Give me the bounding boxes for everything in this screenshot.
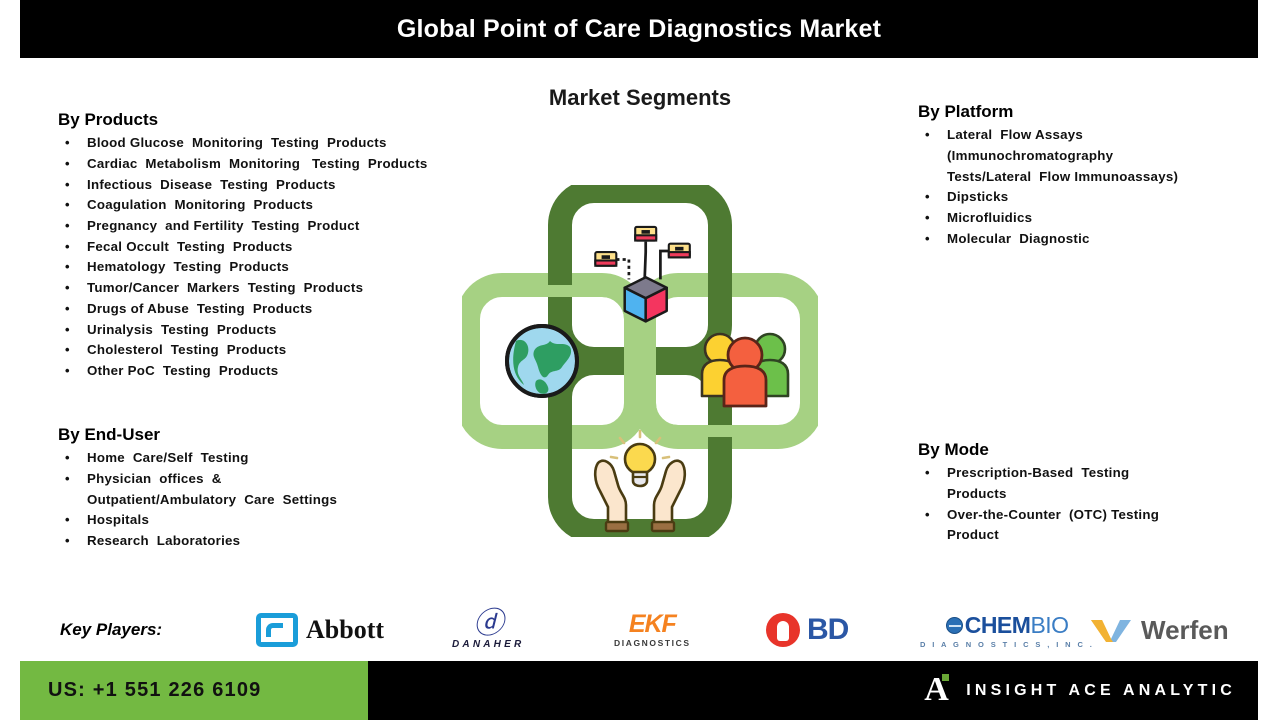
segment-by-products: By Products Blood Glucose Monitoring Tes… — [58, 109, 428, 382]
bd-wordmark: BD — [807, 613, 848, 647]
interlocking-rings-graphic — [462, 185, 818, 537]
list-item: Pregnancy and Fertility Testing Product — [58, 216, 428, 237]
abbott-mark-icon — [256, 613, 298, 647]
by-end-user-heading: By End-User — [58, 424, 337, 445]
danaher-wordmark: DANAHER — [452, 639, 524, 650]
list-item: Dipsticks — [918, 187, 1248, 208]
logo-danaher[interactable]: ⓓ DANAHER — [452, 600, 524, 660]
list-item: Prescription-Based Testing — [918, 463, 1248, 484]
list-item: Research Laboratories — [58, 531, 337, 552]
list-item: Hospitals — [58, 510, 337, 531]
list-item-continuation: (Immunochromatography — [918, 146, 1248, 167]
logo-werfen[interactable]: Werfen — [1090, 600, 1229, 660]
chembio-globe-icon — [946, 617, 963, 634]
brand-logo[interactable]: A INSIGHT ACE ANALYTIC — [924, 674, 1258, 708]
by-products-heading: By Products — [58, 109, 428, 130]
chembio-subtext: D I A G N O S T I C S , I N C . — [920, 640, 1094, 649]
segment-by-mode: By Mode Prescription-Based Testing Produ… — [918, 439, 1248, 546]
list-item: Drugs of Abuse Testing Products — [58, 299, 428, 320]
list-item: Cholesterol Testing Products — [58, 340, 428, 361]
chembio-wordmark-bold: CHEM — [965, 612, 1031, 638]
list-item: Molecular Diagnostic — [918, 229, 1248, 250]
list-item-continuation: Outpatient/Ambulatory Care Settings — [58, 490, 337, 511]
brand-accent-dot — [942, 674, 949, 681]
list-item-continuation: Tests/Lateral Flow Immunoassays) — [918, 167, 1248, 188]
key-players-row: Key Players: Abbott ⓓ DANAHER EKF DIAGNO… — [0, 600, 1280, 660]
by-mode-heading: By Mode — [918, 439, 1248, 460]
by-platform-heading: By Platform — [918, 101, 1248, 122]
bd-starburst-icon — [766, 613, 800, 647]
list-item-continuation: Products — [918, 484, 1248, 505]
list-item: Physician offices & — [58, 469, 337, 490]
list-item: Cardiac Metabolism Monitoring Testing Pr… — [58, 154, 428, 175]
list-item: Coagulation Monitoring Products — [58, 195, 428, 216]
danaher-mark-icon: ⓓ — [473, 611, 503, 637]
by-platform-list: Lateral Flow Assays (Immunochromatograph… — [918, 125, 1248, 249]
list-item-continuation: Product — [918, 525, 1248, 546]
werfen-chevron-icon — [1090, 617, 1132, 643]
logo-bd[interactable]: BD — [766, 600, 848, 660]
list-item: Over-the-Counter (OTC) Testing — [918, 505, 1248, 526]
globe-icon — [507, 326, 577, 396]
list-item: Infectious Disease Testing Products — [58, 175, 428, 196]
segment-by-platform: By Platform Lateral Flow Assays (Immunoc… — [918, 101, 1248, 249]
logo-ekf-diagnostics[interactable]: EKF DIAGNOSTICS — [614, 600, 691, 660]
people-group-icon — [702, 334, 788, 406]
by-products-list: Blood Glucose Monitoring Testing Product… — [58, 133, 428, 381]
ekf-wordmark: EKF — [629, 612, 676, 637]
abbott-wordmark: Abbott — [306, 615, 384, 645]
insight-ace-a-icon: A — [924, 674, 950, 708]
page-title: Global Point of Care Diagnostics Market — [397, 15, 881, 44]
list-item: Microfluidics — [918, 208, 1248, 229]
logo-chembio-diagnostics[interactable]: CHEMBIO D I A G N O S T I C S , I N C . — [920, 600, 1094, 660]
header-bar: Global Point of Care Diagnostics Market — [20, 0, 1258, 58]
list-item: Blood Glucose Monitoring Testing Product… — [58, 133, 428, 154]
key-players-label: Key Players: — [60, 620, 162, 640]
list-item: Other PoC Testing Products — [58, 361, 428, 382]
footer-brand-bar: A INSIGHT ACE ANALYTIC — [368, 661, 1258, 720]
list-item: Home Care/Self Testing — [58, 448, 337, 469]
by-mode-list: Prescription-Based Testing Products Over… — [918, 463, 1248, 546]
list-item: Fecal Occult Testing Products — [58, 237, 428, 258]
brand-name: INSIGHT ACE ANALYTIC — [966, 682, 1236, 700]
contact-phone[interactable]: US: +1 551 226 6109 — [20, 679, 262, 702]
list-item: Urinalysis Testing Products — [58, 320, 428, 341]
footer-phone-bar: US: +1 551 226 6109 — [20, 661, 368, 720]
list-item: Hematology Testing Products — [58, 257, 428, 278]
list-item: Lateral Flow Assays — [918, 125, 1248, 146]
ekf-subtext: DIAGNOSTICS — [614, 638, 691, 648]
logo-abbott[interactable]: Abbott — [256, 600, 384, 660]
list-item: Tumor/Cancer Markers Testing Products — [58, 278, 428, 299]
segment-by-end-user: By End-User Home Care/Self Testing Physi… — [58, 424, 337, 552]
werfen-wordmark: Werfen — [1141, 615, 1229, 646]
chembio-wordmark-light: BIO — [1030, 612, 1068, 638]
by-end-user-list: Home Care/Self Testing Physician offices… — [58, 448, 337, 552]
